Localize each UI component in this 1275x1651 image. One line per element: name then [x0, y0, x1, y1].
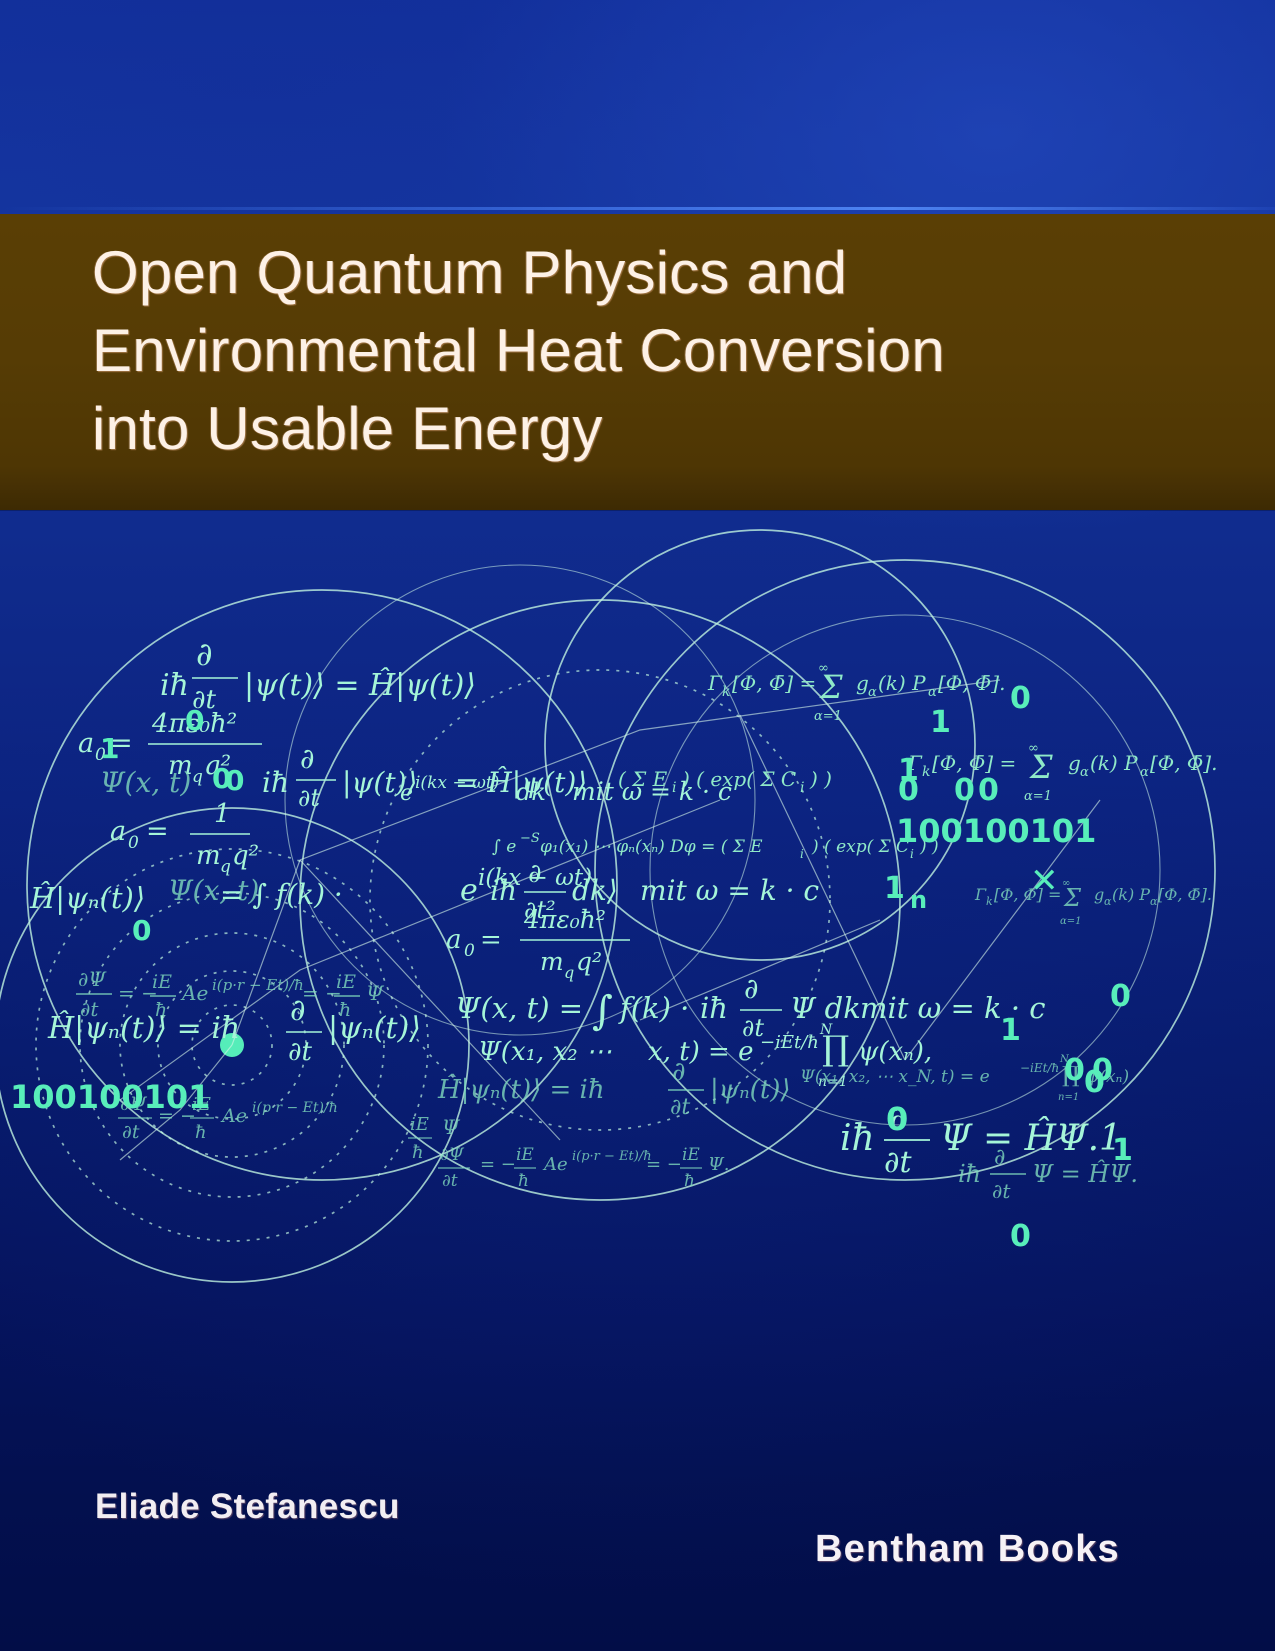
svg-text:iħ: iħ	[160, 668, 189, 703]
svg-text:∂t: ∂t	[670, 1095, 690, 1120]
svg-text:✕: ✕	[1030, 861, 1059, 901]
svg-text:0: 0	[132, 914, 151, 947]
svg-text:i(p·r − Et)/ħ: i(p·r − Et)/ħ	[212, 976, 304, 994]
svg-text:i: i	[800, 847, 804, 861]
svg-text:mit ω = k · c: mit ω = k · c	[572, 777, 732, 806]
svg-text:α=1: α=1	[1060, 916, 1082, 927]
svg-text:α=1: α=1	[814, 709, 842, 724]
svg-text:0: 0	[1010, 681, 1031, 716]
svg-text:Ψ: Ψ	[442, 1115, 461, 1139]
svg-text:a: a	[78, 728, 94, 759]
title-line-2: Environmental Heat Conversion	[92, 312, 1092, 390]
svg-text:q: q	[564, 963, 574, 982]
svg-text:[Φ, Φ̄].: [Φ, Φ̄].	[938, 671, 1005, 695]
svg-text:Ae: Ae	[180, 981, 208, 1005]
svg-text:Ψ(x₁, x₂ ⋯: Ψ(x₁, x₂ ⋯	[478, 1037, 612, 1067]
svg-text:α: α	[1080, 765, 1089, 780]
svg-text:i(p·r − Et)/ħ: i(p·r − Et)/ħ	[252, 1100, 338, 1116]
svg-text:∫ e: ∫ e	[492, 837, 516, 857]
svg-text:iE: iE	[516, 1145, 534, 1165]
svg-text:m: m	[196, 841, 221, 871]
svg-text:−iEt/ħ: −iEt/ħ	[760, 1032, 819, 1053]
svg-text:α: α	[1150, 895, 1158, 908]
svg-text:Ae: Ae	[220, 1105, 247, 1127]
svg-text:∂t: ∂t	[992, 1179, 1011, 1203]
svg-text:α=1: α=1	[1024, 789, 1052, 804]
svg-text:Ψ.: Ψ.	[708, 1154, 730, 1175]
svg-text:e: e	[400, 781, 413, 806]
svg-text:a: a	[110, 816, 126, 847]
equation-group-left: iħ ∂ ∂t |ψ(t)⟩ = Ĥ|ψ(t)⟩ a 0 = 4πε₀ħ² m …	[29, 635, 476, 1143]
svg-text:|ψₙ(t)⟩: |ψₙ(t)⟩	[328, 1011, 421, 1046]
svg-text:= −: = −	[646, 1154, 682, 1175]
svg-text:−iEt/ħ: −iEt/ħ	[1020, 1061, 1059, 1075]
svg-text:0: 0	[1092, 1053, 1113, 1088]
svg-text:Ψ(x, t) =: Ψ(x, t) =	[455, 991, 583, 1025]
svg-text:0: 0	[978, 773, 999, 808]
svg-text:α: α	[1104, 895, 1112, 908]
svg-text:1: 1	[884, 871, 905, 906]
page-title: Open Quantum Physics and Environmental H…	[92, 234, 1092, 468]
svg-text:Ψ(x, t): Ψ(x, t)	[100, 766, 191, 799]
svg-text:iħ: iħ	[840, 1118, 875, 1159]
svg-text:(k) P: (k) P	[878, 671, 926, 695]
svg-text:g: g	[1068, 751, 1081, 775]
svg-text:ħ: ħ	[195, 1122, 207, 1143]
svg-text:0: 0	[954, 773, 975, 808]
svg-text:1: 1	[1112, 1133, 1133, 1168]
author-name: Eliade Stefanescu	[95, 1487, 400, 1527]
svg-text:100100101: 100100101	[896, 812, 1096, 850]
svg-text:=: =	[146, 816, 169, 847]
svg-text:iE: iE	[336, 971, 356, 993]
svg-text:Ψ = ĤΨ.1: Ψ = ĤΨ.1	[940, 1117, 1122, 1159]
svg-text:N: N	[819, 1022, 833, 1038]
svg-text:Ψ(x₁, x₂, ⋯ x_N, t) = e: Ψ(x₁, x₂, ⋯ x_N, t) = e	[800, 1067, 990, 1087]
svg-text:∂: ∂	[290, 993, 306, 1028]
svg-text:g: g	[1094, 885, 1104, 904]
svg-text:ψ(xₙ),: ψ(xₙ),	[858, 1037, 932, 1067]
svg-text:k: k	[922, 764, 930, 780]
svg-text:iħ: iħ	[490, 874, 517, 907]
svg-text:ħ: ħ	[684, 1171, 695, 1191]
book-cover: .eq { fill:#a5f5d8; font-family:"DejaVu …	[0, 0, 1275, 1651]
quantum-equations-artwork: .eq { fill:#a5f5d8; font-family:"DejaVu …	[0, 500, 1275, 1320]
svg-text:Ψ: Ψ	[366, 981, 385, 1005]
svg-text:0: 0	[898, 773, 919, 808]
title-band: Open Quantum Physics and Environmental H…	[0, 214, 1275, 510]
svg-text:ħ: ħ	[412, 1142, 424, 1163]
svg-text:∂t: ∂t	[288, 1037, 312, 1067]
svg-text:q²: q²	[232, 841, 259, 871]
svg-text:m: m	[540, 947, 564, 976]
svg-text:∞: ∞	[1062, 878, 1070, 889]
svg-text:k: k	[722, 684, 730, 700]
svg-text:f(k) ·: f(k) ·	[618, 991, 689, 1025]
svg-text:Γ: Γ	[707, 671, 723, 695]
svg-text:g: g	[856, 671, 869, 695]
svg-text:0: 0	[1064, 1053, 1085, 1088]
svg-text:e: e	[460, 873, 478, 908]
svg-text:= ∫ f(k) ·: = ∫ f(k) ·	[220, 878, 343, 911]
svg-text:iħ: iħ	[262, 766, 289, 799]
svg-text:= −: = −	[480, 1154, 516, 1175]
svg-text:|ψ(t)⟩ = Ĥ|ψ(t)⟩: |ψ(t)⟩ = Ĥ|ψ(t)⟩	[244, 667, 476, 703]
svg-text:i: i	[800, 780, 804, 796]
svg-text:Ĥ|ψₙ(t)⟩: Ĥ|ψₙ(t)⟩	[29, 880, 145, 915]
svg-text:mit ω = k · c: mit ω = k · c	[640, 874, 819, 907]
svg-text:=: =	[480, 925, 502, 955]
svg-text:∂: ∂	[672, 1057, 685, 1087]
svg-text:0: 0	[225, 764, 244, 797]
svg-text:[Φ, Φ̄] =: [Φ, Φ̄] =	[732, 671, 816, 695]
svg-text:[Φ, Φ̄] =: [Φ, Φ̄] =	[932, 751, 1016, 775]
svg-text:100100101: 100100101	[10, 1078, 210, 1116]
svg-text:a: a	[446, 925, 462, 955]
svg-text:∂Ψ: ∂Ψ	[78, 967, 107, 991]
svg-text:0: 0	[886, 1100, 908, 1138]
svg-text:i(p·r − Et)/ħ: i(p·r − Et)/ħ	[572, 1149, 652, 1164]
svg-text:dk⟩: dk⟩	[572, 874, 618, 907]
svg-text:∞: ∞	[818, 661, 829, 676]
equation-group-right: Γ k [Φ, Φ̄] = Σ ∞ α=1 g α (k) P α [Φ, Φ̄…	[707, 661, 1217, 1203]
svg-text:iE: iE	[152, 971, 172, 993]
svg-text:Ψ dk: Ψ dk	[790, 991, 861, 1025]
svg-text:1: 1	[214, 799, 231, 829]
svg-text:∂: ∂	[994, 1145, 1005, 1170]
svg-text:n=1: n=1	[1058, 1092, 1079, 1103]
svg-text:q: q	[192, 767, 203, 787]
svg-text:∂Ψ: ∂Ψ	[440, 1145, 465, 1165]
svg-text:α: α	[868, 685, 877, 700]
svg-text:(k) P: (k) P	[1112, 885, 1150, 904]
svg-text:α: α	[1140, 765, 1149, 780]
svg-text:α: α	[928, 685, 937, 700]
svg-text:Ĥ|ψₙ(t)⟩ = iħ: Ĥ|ψₙ(t)⟩ = iħ	[47, 1010, 240, 1046]
background-highlight-line	[0, 207, 1275, 210]
svg-text:4πε₀ħ²: 4πε₀ħ²	[523, 905, 606, 934]
svg-text:∂: ∂	[528, 859, 541, 889]
svg-text:∂t: ∂t	[298, 784, 320, 812]
svg-text:0: 0	[1010, 1219, 1031, 1254]
svg-text:iħ: iħ	[958, 1160, 981, 1188]
svg-text:iE: iE	[410, 1114, 429, 1135]
svg-text:−S: −S	[520, 831, 540, 846]
svg-text:0: 0	[128, 833, 139, 853]
svg-text:|ψₙ(t)⟩: |ψₙ(t)⟩	[710, 1075, 791, 1105]
svg-text:i(kx − ωt): i(kx − ωt)	[415, 773, 499, 793]
svg-text:0: 0	[1110, 979, 1131, 1014]
svg-text:dk: dk	[516, 778, 546, 806]
svg-text:φ₁(x₁) ⋯ φₙ(xₙ) Dφ = ( Σ E: φ₁(x₁) ⋯ φₙ(xₙ) Dφ = ( Σ E	[540, 837, 763, 857]
svg-text:∂t: ∂t	[122, 1121, 140, 1143]
svg-text:1: 1	[930, 705, 951, 740]
svg-text:∞: ∞	[1028, 741, 1039, 756]
svg-text:k: k	[986, 895, 993, 908]
svg-text:Ĥ|ψₙ(t)⟩ = iħ: Ĥ|ψₙ(t)⟩ = iħ	[437, 1073, 605, 1105]
svg-text:1: 1	[100, 732, 119, 765]
svg-text:q²: q²	[576, 947, 602, 976]
svg-text:∂t: ∂t	[442, 1171, 458, 1191]
svg-text:∂t: ∂t	[884, 1145, 913, 1180]
svg-text:Ae: Ae	[542, 1154, 568, 1175]
svg-text:∂: ∂	[744, 972, 758, 1005]
svg-text:∫: ∫	[592, 988, 613, 1034]
svg-text:∂: ∂	[300, 742, 314, 775]
title-line-1: Open Quantum Physics and	[92, 234, 1092, 312]
svg-text:iħ: iħ	[700, 991, 728, 1025]
svg-text:[Φ, Φ̄].: [Φ, Φ̄].	[1150, 751, 1217, 775]
svg-text:(k) P: (k) P	[1090, 751, 1138, 775]
svg-text:[Φ, Φ̄].: [Φ, Φ̄].	[1158, 885, 1212, 904]
svg-text:0: 0	[464, 941, 475, 961]
svg-text:∂: ∂	[196, 635, 213, 673]
svg-text:x, t) = e: x, t) = e	[648, 1037, 754, 1067]
publisher-name: Bentham Books	[815, 1528, 1120, 1571]
svg-text:ħ: ħ	[518, 1171, 529, 1191]
svg-text:1: 1	[1000, 1013, 1021, 1048]
svg-text:iE: iE	[682, 1145, 700, 1165]
svg-text:) ( exp( Σ C: ) ( exp( Σ C	[811, 837, 909, 857]
svg-text:n: n	[910, 886, 927, 914]
svg-text:0: 0	[185, 704, 204, 737]
svg-text:) ): ) )	[809, 767, 832, 791]
title-line-3: into Usable Energy	[92, 390, 1092, 468]
